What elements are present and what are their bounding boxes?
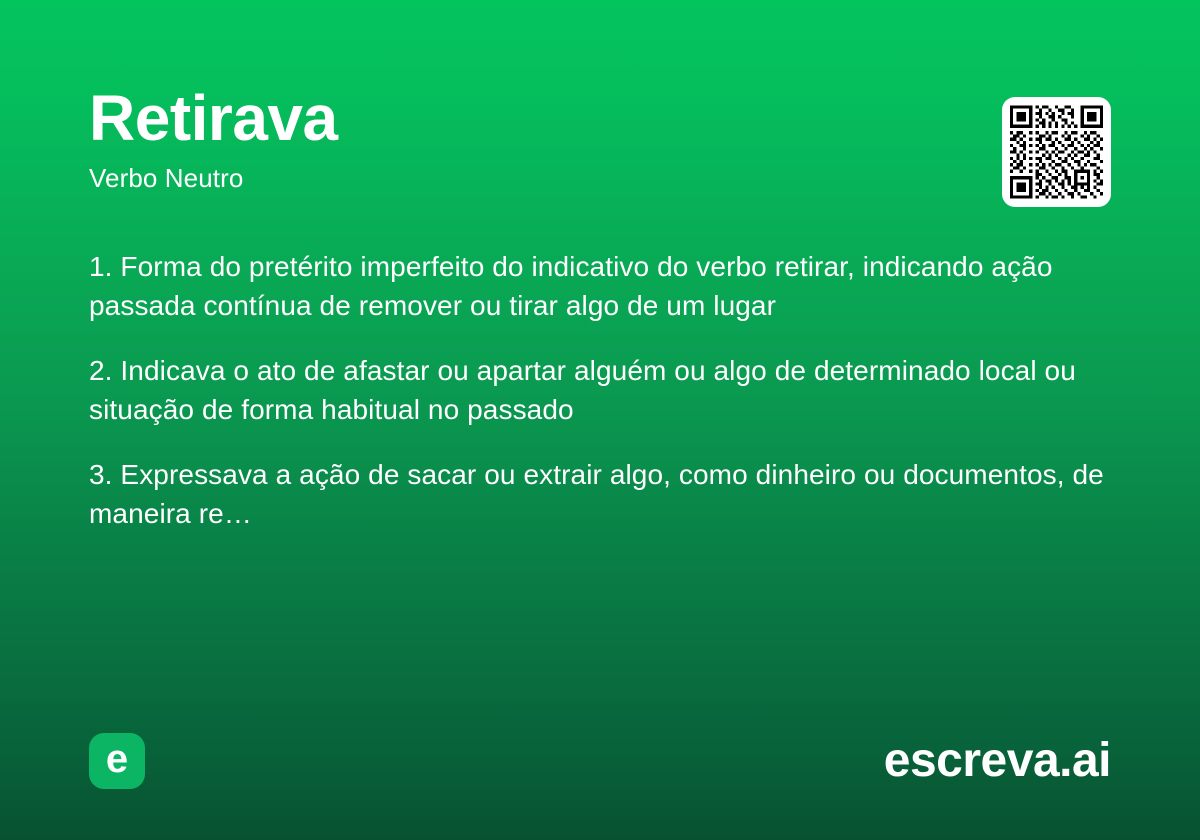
card-footer: e escreva.ai — [89, 732, 1111, 790]
logo-letter: e — [106, 739, 128, 779]
definition-item: 1. Forma do pretérito imperfeito do indi… — [89, 248, 1109, 325]
page-title: Retirava — [89, 86, 1111, 150]
brand-wordmark: escreva.ai — [884, 737, 1111, 785]
definition-item: 2. Indicava o ato de afastar ou apartar … — [89, 352, 1109, 429]
qr-code-icon — [1010, 105, 1103, 199]
word-class-label: Verbo Neutro — [89, 164, 1111, 193]
qr-code-card[interactable] — [1002, 97, 1111, 207]
definition-list: 1. Forma do pretérito imperfeito do indi… — [89, 248, 1109, 533]
card-header: Retirava Verbo Neutro — [89, 86, 1111, 193]
definition-item: 3. Expressava a ação de sacar ou extrair… — [89, 456, 1109, 533]
definition-card: Retirava Verbo Neutro — [0, 0, 1200, 840]
escreva-logo-icon: e — [89, 733, 145, 789]
